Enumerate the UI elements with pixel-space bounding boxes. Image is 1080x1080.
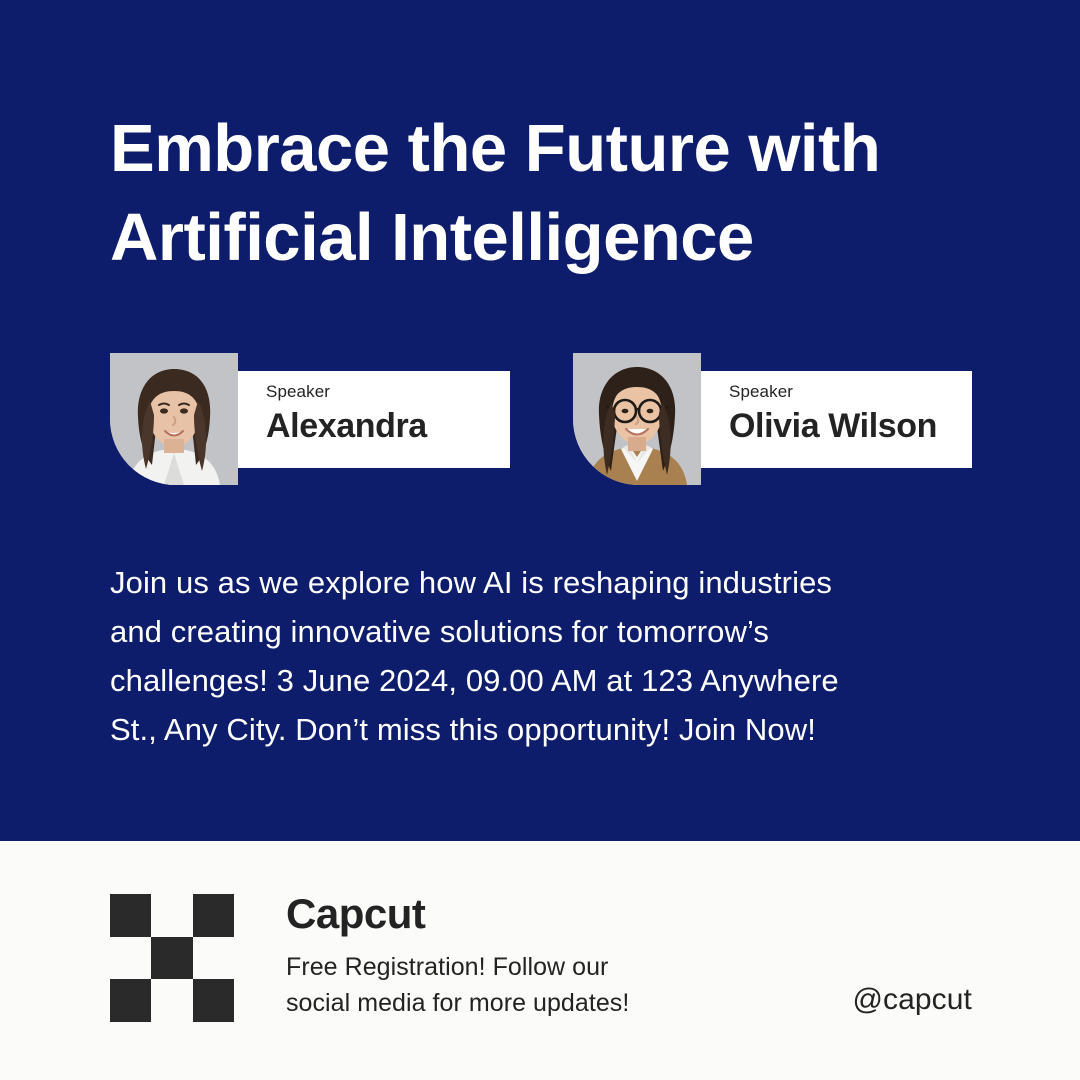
- headline-line-2: Artificial Intelligence: [110, 193, 1010, 282]
- logo-cell-1: [110, 894, 151, 937]
- footer-bar: Capcut Free Registration! Follow our soc…: [0, 841, 1080, 1080]
- avatar-alexandra: [110, 353, 238, 485]
- speaker-name: Olivia Wilson: [729, 404, 972, 450]
- logo-cell-9: [193, 979, 234, 1022]
- speaker-info-alexandra: Speaker Alexandra: [238, 371, 510, 468]
- brand-tagline: Free Registration! Follow our social med…: [286, 949, 826, 1021]
- page-title: Embrace the Future with Artificial Intel…: [110, 104, 1010, 282]
- description-line-2: and creating innovative solutions for to…: [110, 607, 990, 656]
- speaker-role-label: Speaker: [729, 382, 972, 402]
- event-flyer-poster: Embrace the Future with Artificial Intel…: [0, 0, 1080, 1080]
- event-description: Join us as we explore how AI is reshapin…: [110, 558, 990, 754]
- checkerboard-logo-icon: [110, 894, 234, 1022]
- speaker-card-alexandra: Speaker Alexandra: [110, 353, 510, 487]
- logo-cell-2: [151, 894, 192, 937]
- speaker-list: Speaker Alexandra: [110, 353, 972, 487]
- avatar-olivia-wilson: [573, 353, 701, 485]
- speaker-card-olivia-wilson: Speaker Olivia Wilson: [573, 353, 972, 487]
- speaker-info-olivia-wilson: Speaker Olivia Wilson: [701, 371, 972, 468]
- logo-cell-6: [193, 937, 234, 980]
- tagline-line-1: Free Registration! Follow our: [286, 949, 826, 985]
- description-line-3: challenges! 3 June 2024, 09.00 AM at 123…: [110, 656, 990, 705]
- logo-cell-7: [110, 979, 151, 1022]
- speaker-name: Alexandra: [266, 404, 510, 450]
- logo-cell-4: [110, 937, 151, 980]
- headline-line-1: Embrace the Future with: [110, 104, 1010, 193]
- logo-cell-8: [151, 979, 192, 1022]
- logo-cell-3: [193, 894, 234, 937]
- description-line-4: St., Any City. Don’t miss this opportuni…: [110, 705, 990, 754]
- brand-text-block: Capcut Free Registration! Follow our soc…: [286, 890, 826, 1021]
- description-line-1: Join us as we explore how AI is reshapin…: [110, 558, 990, 607]
- logo-cell-5: [151, 937, 192, 980]
- tagline-line-2: social media for more updates!: [286, 985, 826, 1021]
- brand-name: Capcut: [286, 890, 826, 938]
- speaker-role-label: Speaker: [266, 382, 510, 402]
- social-handle[interactable]: @capcut: [852, 983, 972, 1017]
